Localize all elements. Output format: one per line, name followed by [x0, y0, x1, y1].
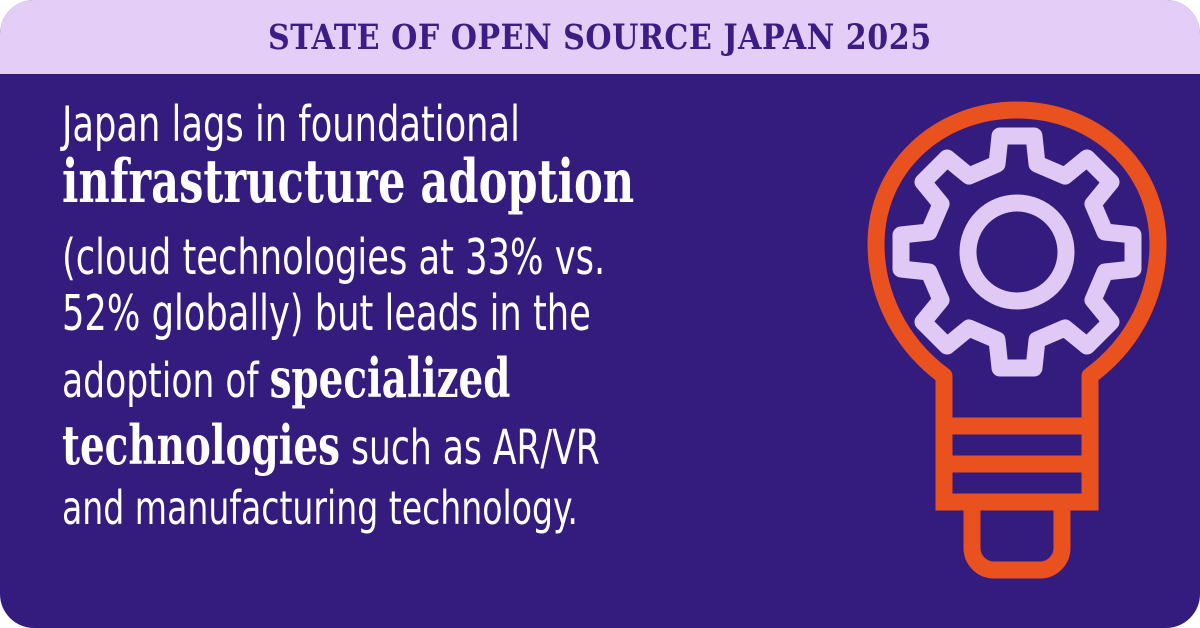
body-line-1: Japan lags in foundational: [62, 100, 520, 149]
page-title: STATE OF OPEN SOURCE JAPAN 2025: [268, 20, 932, 55]
lightbulb-with-gear-svg: [862, 96, 1172, 596]
body-line-5-regular: adoption of: [62, 353, 270, 409]
gear-center-hole: [968, 203, 1066, 301]
body-line-4: 52% globally) but leads in the: [62, 289, 591, 338]
body-line-5: adoption of specialized: [62, 351, 510, 405]
body-line-6-emphasis: technologies: [62, 413, 340, 477]
gear-icon: [901, 136, 1133, 368]
body-line-3: (cloud technologies at 33% vs.: [62, 233, 605, 282]
bulb-contact-base: [972, 502, 1062, 570]
lightbulb-with-gear-icon: [862, 96, 1172, 596]
body-area: Japan lags in foundational infrastructur…: [0, 74, 1200, 628]
infographic-card: STATE OF OPEN SOURCE JAPAN 2025 Japan la…: [0, 0, 1200, 628]
body-line-6: technologies such as AR/VR: [62, 418, 600, 472]
body-line-6-regular: such as AR/VR: [340, 420, 600, 476]
gear-teeth-outline: [901, 136, 1133, 368]
body-line-5-emphasis: specialized: [270, 346, 511, 410]
header-band: STATE OF OPEN SOURCE JAPAN 2025: [0, 0, 1200, 74]
body-line-7: and manufacturing technology.: [62, 485, 578, 531]
body-line-2-emphasis: infrastructure adoption: [62, 152, 634, 212]
